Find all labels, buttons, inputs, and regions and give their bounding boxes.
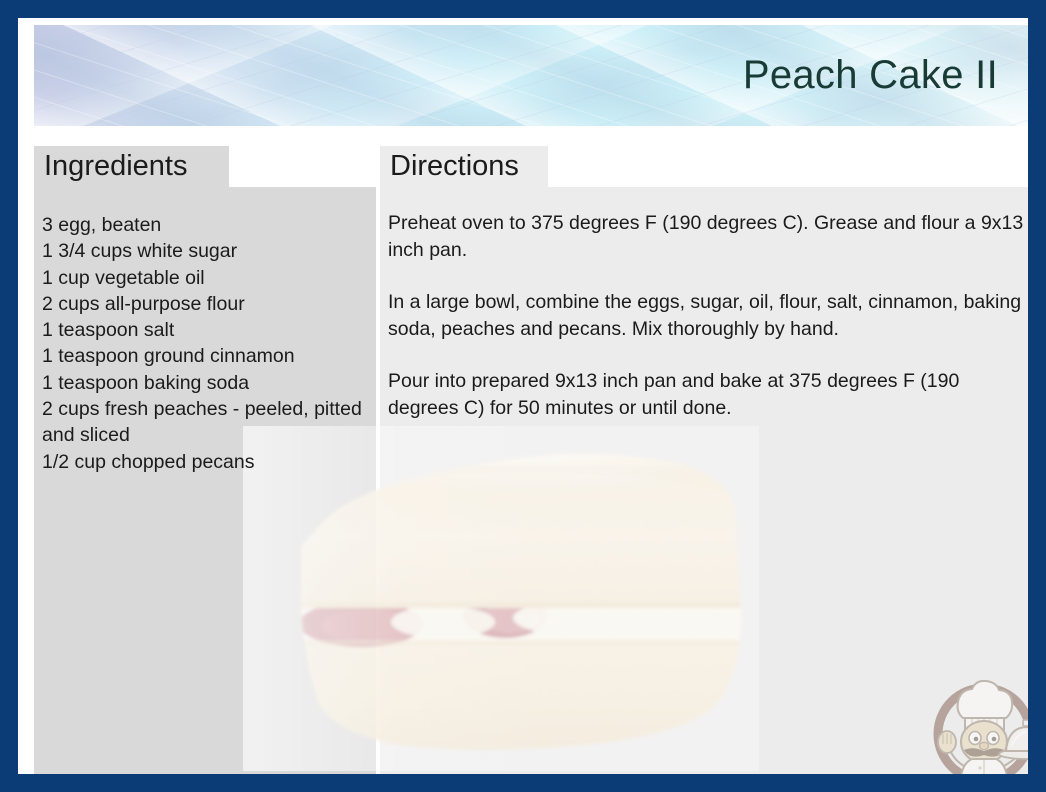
direction-step: In a large bowl, combine the eggs, sugar…: [388, 289, 1028, 342]
list-item: 3 egg, beaten: [42, 212, 372, 238]
directions-heading: Directions: [380, 146, 548, 187]
list-item: 2 cups fresh peaches - peeled, pitted an…: [42, 396, 372, 449]
list-item: 1 cup vegetable oil: [42, 265, 372, 291]
recipe-card: Peach Cake II Ingredients 3 egg, beaten …: [0, 0, 1046, 792]
list-item: 2 cups all-purpose flour: [42, 291, 372, 317]
list-item: 1/2 cup chopped pecans: [42, 449, 372, 475]
directions-text: Preheat oven to 375 degrees F (190 degre…: [388, 210, 1028, 421]
header-banner: Peach Cake II: [34, 25, 1028, 126]
list-item: 1 teaspoon baking soda: [42, 370, 372, 396]
ingredients-heading: Ingredients: [34, 146, 229, 187]
ingredients-list: 3 egg, beaten 1 3/4 cups white sugar 1 c…: [42, 212, 372, 475]
page-title: Peach Cake II: [743, 55, 998, 95]
direction-step: Preheat oven to 375 degrees F (190 degre…: [388, 210, 1028, 263]
list-item: 1 teaspoon ground cinnamon: [42, 343, 372, 369]
list-item: 1 3/4 cups white sugar: [42, 238, 372, 264]
direction-step: Pour into prepared 9x13 inch pan and bak…: [388, 368, 1028, 421]
list-item: 1 teaspoon salt: [42, 317, 372, 343]
